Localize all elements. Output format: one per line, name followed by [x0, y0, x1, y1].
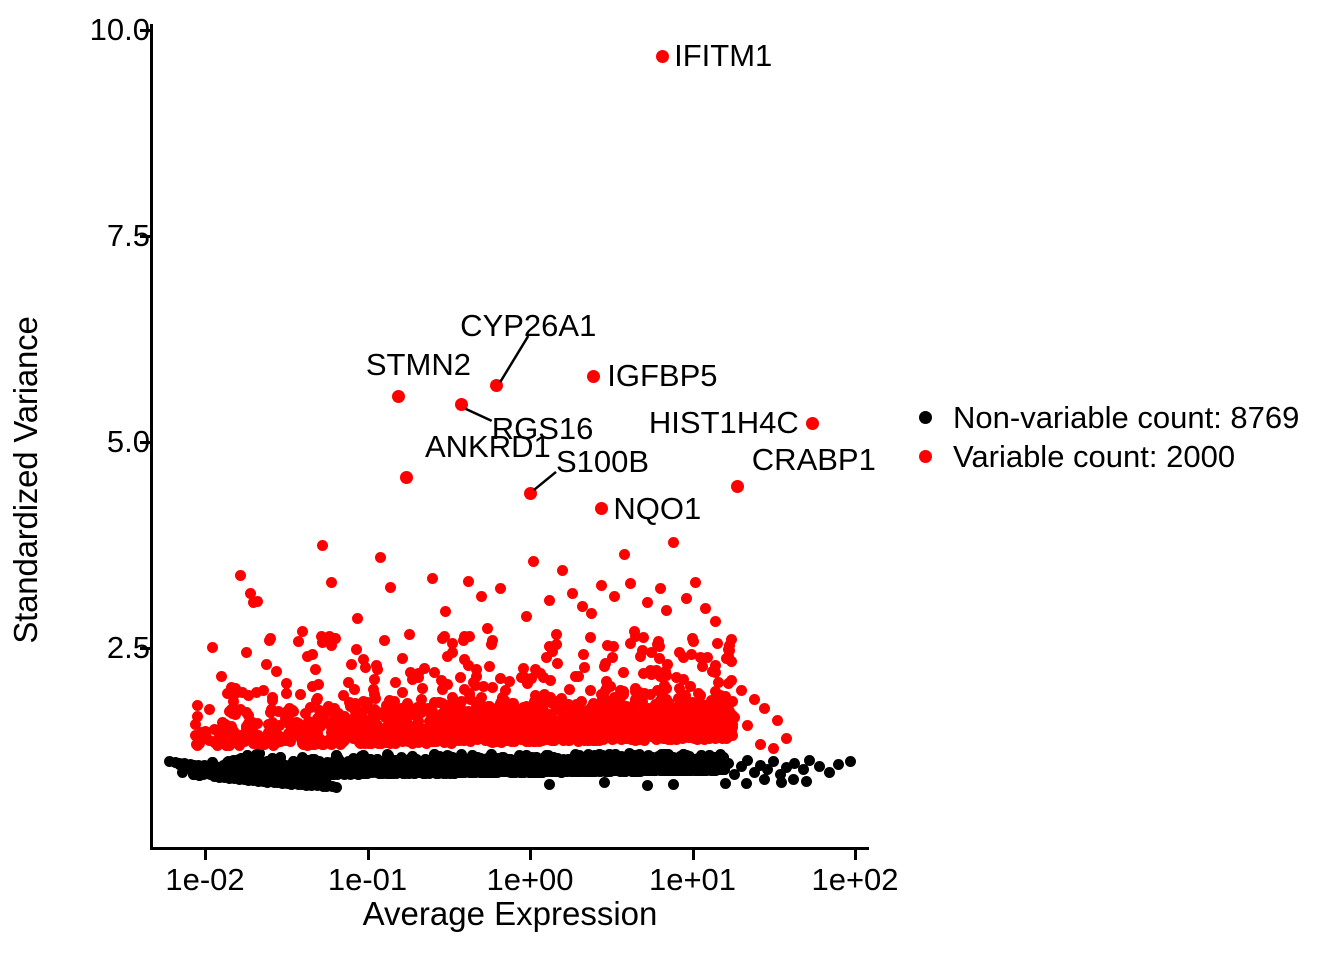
variable-feature-plot: Standardized Variance Average Expression… — [0, 0, 1344, 960]
